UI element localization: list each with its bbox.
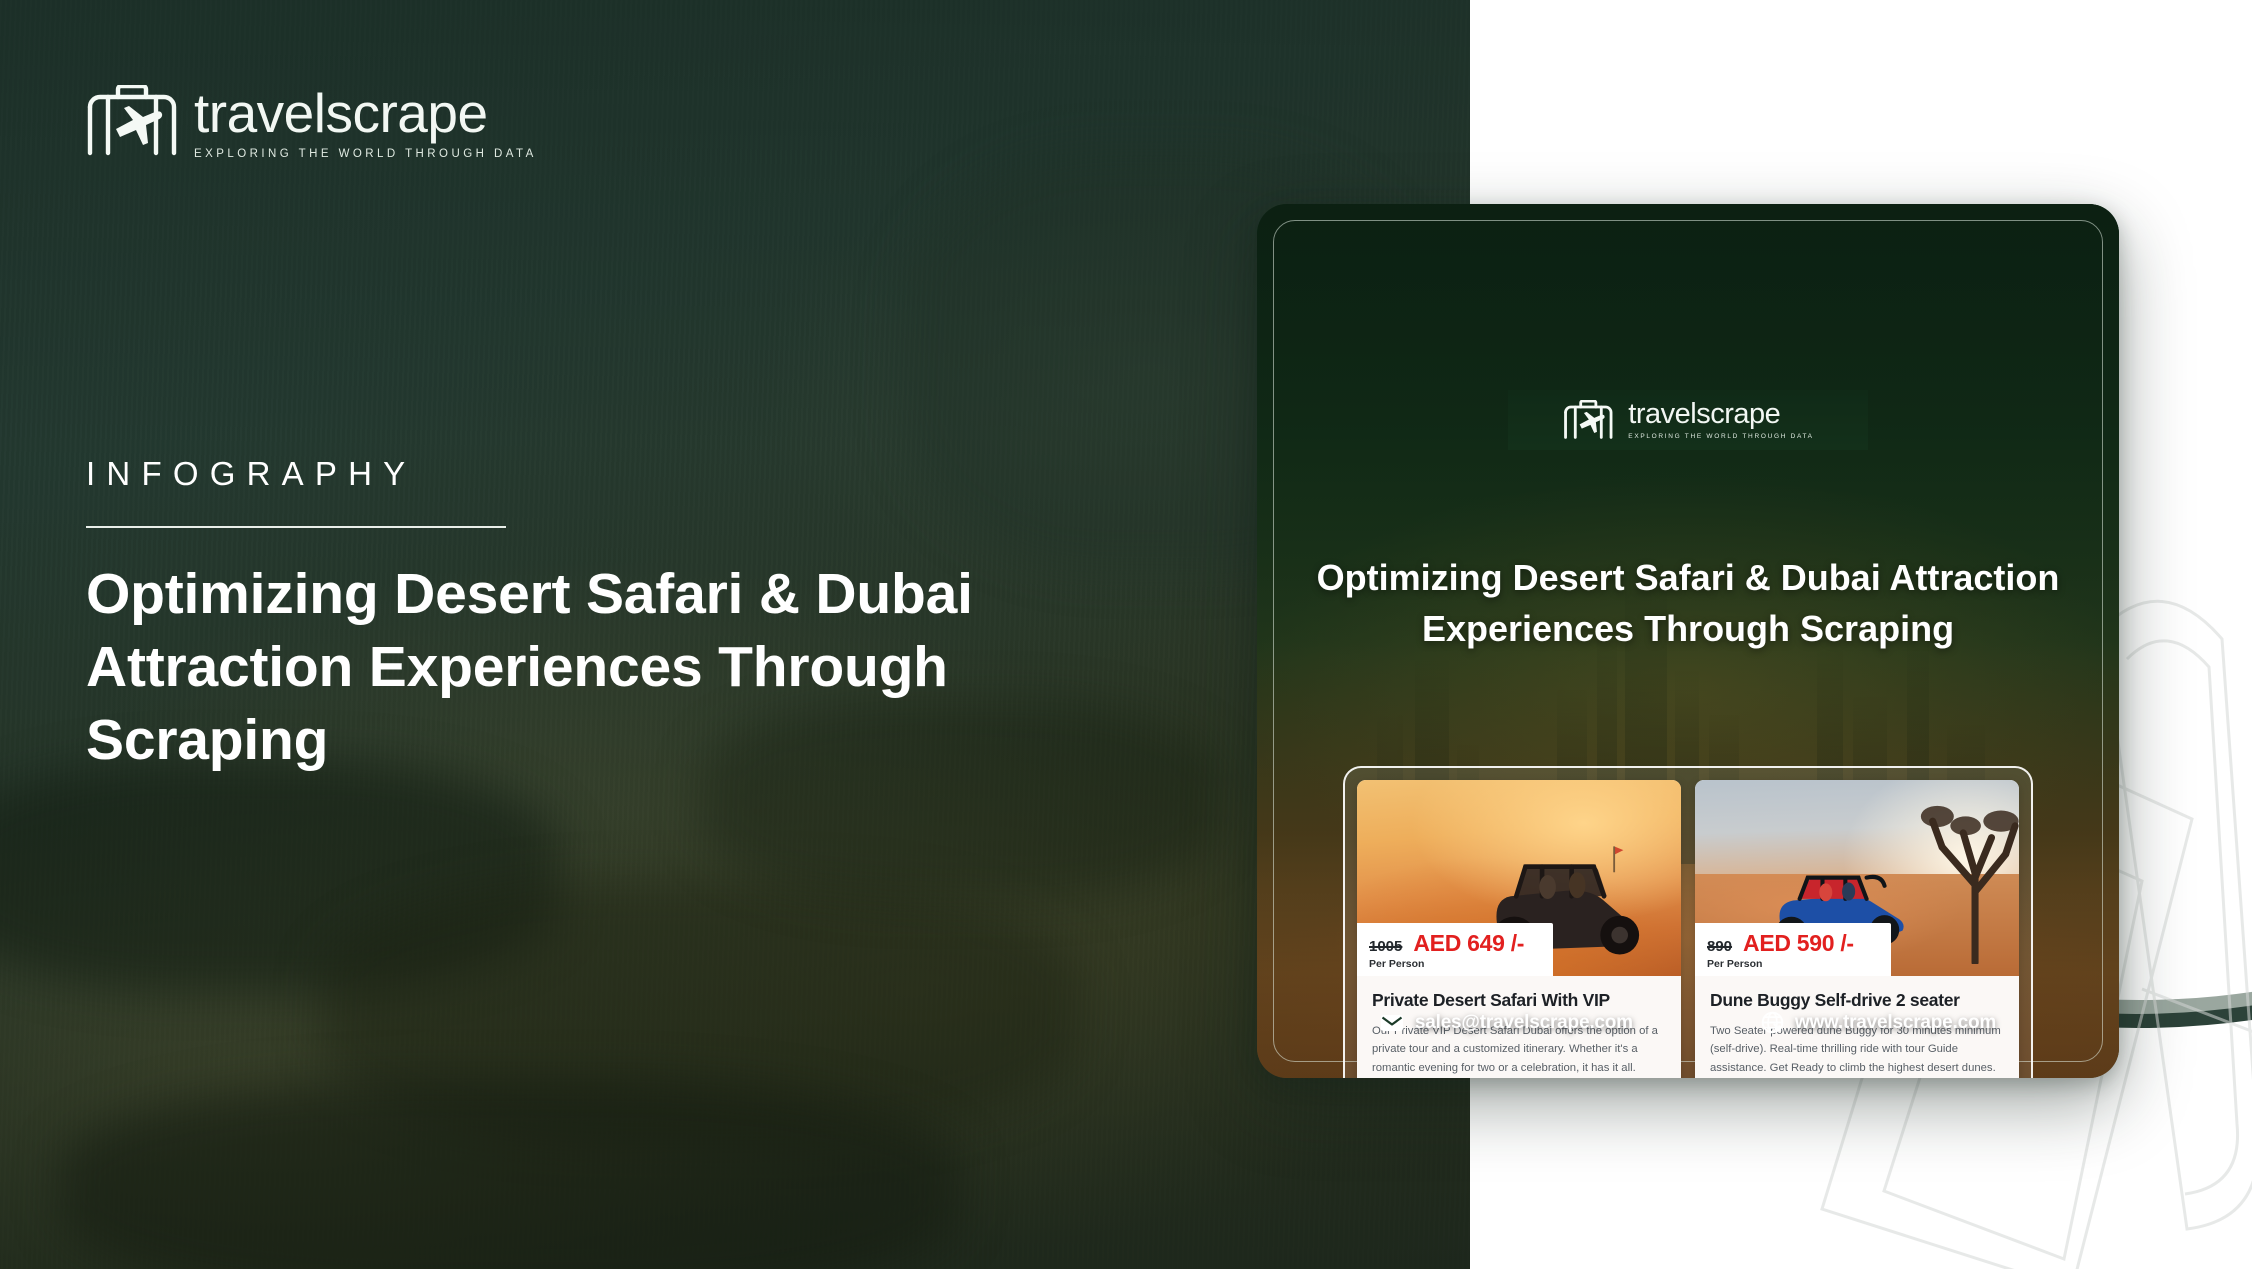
panel-brand-logo: travelscrape EXPLORING THE WORLD THROUGH… — [1562, 400, 1813, 440]
brand-tagline: EXPLORING THE WORLD THROUGH DATA — [194, 148, 537, 160]
price-current: AED 590 /- — [1743, 930, 1854, 957]
brand-wordmark: travelscrape — [194, 86, 537, 141]
panel-brand-wordmark: travelscrape — [1628, 400, 1813, 429]
globe-icon — [1761, 1011, 1784, 1034]
brand-logo: travelscrape EXPLORING THE WORLD THROUGH… — [84, 82, 537, 160]
product-title: Dune Buggy Self-drive 2 seater — [1710, 990, 2004, 1011]
product-image: 890 AED 590 /- Per Person — [1695, 780, 2019, 976]
price-tag: 1005 AED 649 /- Per Person — [1357, 923, 1553, 976]
panel-headline: Optimizing Desert Safari & Dubai Attract… — [1299, 552, 2077, 654]
panel-footer: sales@travelscrape.com www.travelscrape.… — [1257, 1011, 2119, 1034]
price-unit: Per Person — [1707, 958, 1875, 970]
price-current: AED 649 /- — [1413, 930, 1524, 957]
envelope-icon — [1380, 1014, 1404, 1032]
product-image: 1005 AED 649 /- Per Person — [1357, 780, 1681, 976]
preview-panel: travelscrape EXPLORING THE WORLD THROUGH… — [1257, 204, 2119, 1078]
price-original: 1005 — [1369, 938, 1402, 955]
product-title: Private Desert Safari With VIP — [1372, 990, 1666, 1011]
suitcase-plane-icon — [84, 85, 180, 157]
contact-email[interactable]: sales@travelscrape.com — [1380, 1012, 1633, 1034]
price-tag: 890 AED 590 /- Per Person — [1695, 923, 1891, 976]
eyebrow-label: INFOGRAPHY — [86, 455, 516, 493]
infographic-canvas: travelscrape EXPLORING THE WORLD THROUGH… — [0, 0, 2252, 1269]
price-original: 890 — [1707, 938, 1732, 955]
contact-website-text: www.travelscrape.com — [1795, 1012, 1996, 1034]
page-title: Optimizing Desert Safari & Dubai Attract… — [86, 558, 1156, 777]
price-unit: Per Person — [1369, 958, 1537, 970]
panel-brand-tagline: EXPLORING THE WORLD THROUGH DATA — [1628, 433, 1813, 440]
suitcase-plane-icon — [1562, 400, 1614, 440]
eyebrow-block: INFOGRAPHY — [86, 455, 516, 528]
eyebrow-divider — [86, 526, 506, 528]
contact-email-text: sales@travelscrape.com — [1415, 1012, 1633, 1034]
contact-website[interactable]: www.travelscrape.com — [1761, 1011, 1996, 1034]
